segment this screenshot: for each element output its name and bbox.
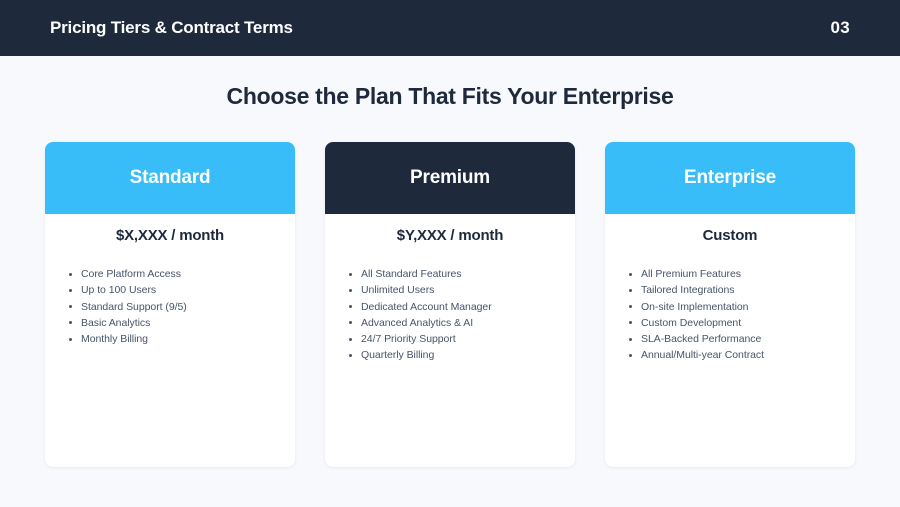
list-item: Unlimited Users [361, 282, 563, 298]
pricing-card-row: Standard $X,XXX / month Core Platform Ac… [45, 142, 855, 467]
plan-feature-list-standard: Core Platform Access Up to 100 Users Sta… [45, 266, 295, 347]
list-item: Standard Support (9/5) [81, 299, 283, 315]
list-item: Up to 100 Users [81, 282, 283, 298]
plan-name-premium: Premium [410, 167, 490, 189]
pricing-card-header-premium: Premium [325, 142, 575, 214]
list-item: 24/7 Priority Support [361, 331, 563, 347]
slide-header-bar: Pricing Tiers & Contract Terms 03 [0, 0, 900, 56]
pricing-card-premium[interactable]: Premium $Y,XXX / month All Standard Feat… [325, 142, 575, 467]
list-item: Tailored Integrations [641, 282, 843, 298]
pricing-card-standard[interactable]: Standard $X,XXX / month Core Platform Ac… [45, 142, 295, 467]
plan-feature-list-enterprise: All Premium Features Tailored Integratio… [605, 266, 855, 364]
pricing-card-header-standard: Standard [45, 142, 295, 214]
list-item: Basic Analytics [81, 315, 283, 331]
list-item: Dedicated Account Manager [361, 299, 563, 315]
list-item: On-site Implementation [641, 299, 843, 315]
list-item: All Standard Features [361, 266, 563, 282]
list-item: Quarterly Billing [361, 347, 563, 363]
plan-price-enterprise: Custom [605, 214, 855, 244]
list-item: Advanced Analytics & AI [361, 315, 563, 331]
list-item: Monthly Billing [81, 331, 283, 347]
slide-page-number: 03 [830, 18, 850, 38]
plan-name-standard: Standard [130, 167, 211, 189]
list-item: Core Platform Access [81, 266, 283, 282]
list-item: Custom Development [641, 315, 843, 331]
list-item: SLA-Backed Performance [641, 331, 843, 347]
pricing-card-enterprise[interactable]: Enterprise Custom All Premium Features T… [605, 142, 855, 467]
list-item: Annual/Multi-year Contract [641, 347, 843, 363]
list-item: All Premium Features [641, 266, 843, 282]
slide-section-title: Pricing Tiers & Contract Terms [50, 18, 293, 38]
plan-name-enterprise: Enterprise [684, 167, 776, 189]
pricing-card-header-enterprise: Enterprise [605, 142, 855, 214]
plan-feature-list-premium: All Standard Features Unlimited Users De… [325, 266, 575, 364]
plan-price-premium: $Y,XXX / month [325, 214, 575, 244]
plan-price-standard: $X,XXX / month [45, 214, 295, 244]
page-title: Choose the Plan That Fits Your Enterpris… [0, 83, 900, 110]
